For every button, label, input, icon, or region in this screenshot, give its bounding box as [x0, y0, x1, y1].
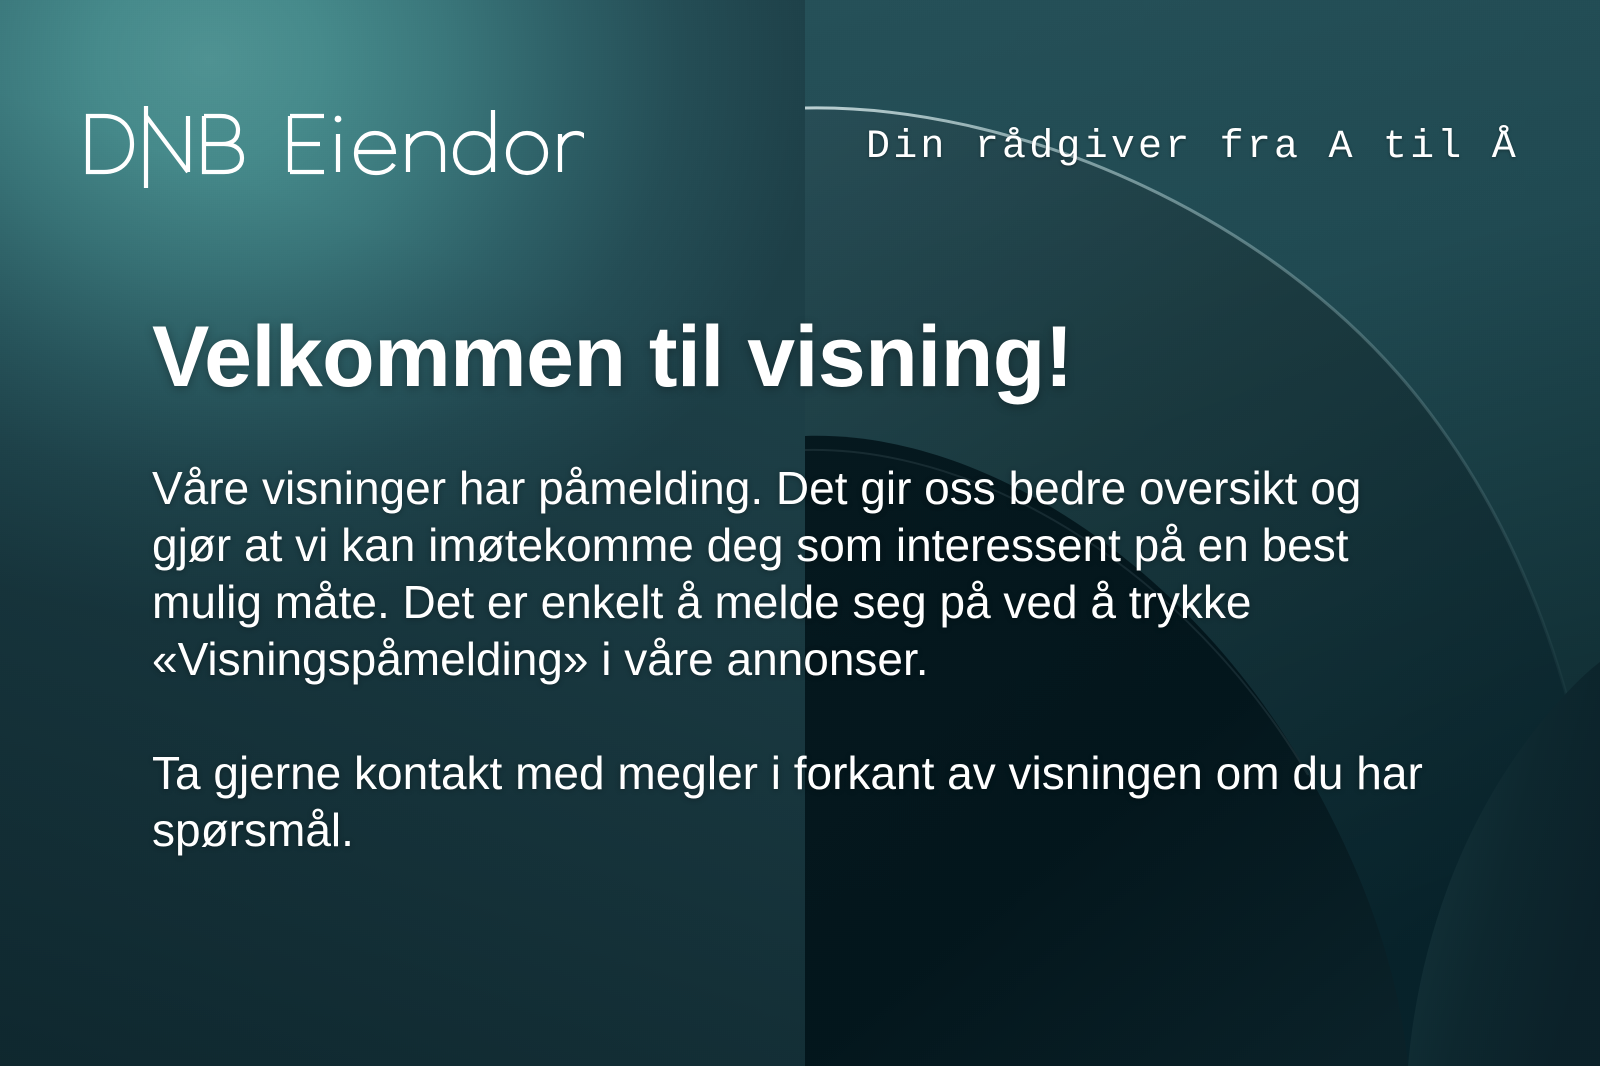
paragraph-spacer: [152, 688, 1442, 745]
logo-i-dot: [335, 116, 342, 123]
slide-root: Din rådgiver fra A til Å Velkommen til v…: [0, 0, 1600, 1066]
body-paragraph-1: Våre visninger har påmelding. Det gir os…: [152, 460, 1442, 688]
page-title: Velkommen til visning!: [152, 314, 1073, 400]
dnb-eiendom-logo: [84, 104, 584, 188]
body-paragraph-2: Ta gjerne kontakt med megler i forkant a…: [152, 745, 1442, 859]
tagline: Din rådgiver fra A til Å: [866, 125, 1519, 170]
body-copy: Våre visninger har påmelding. Det gir os…: [152, 460, 1442, 859]
slide-content: Din rådgiver fra A til Å Velkommen til v…: [0, 0, 1600, 1066]
